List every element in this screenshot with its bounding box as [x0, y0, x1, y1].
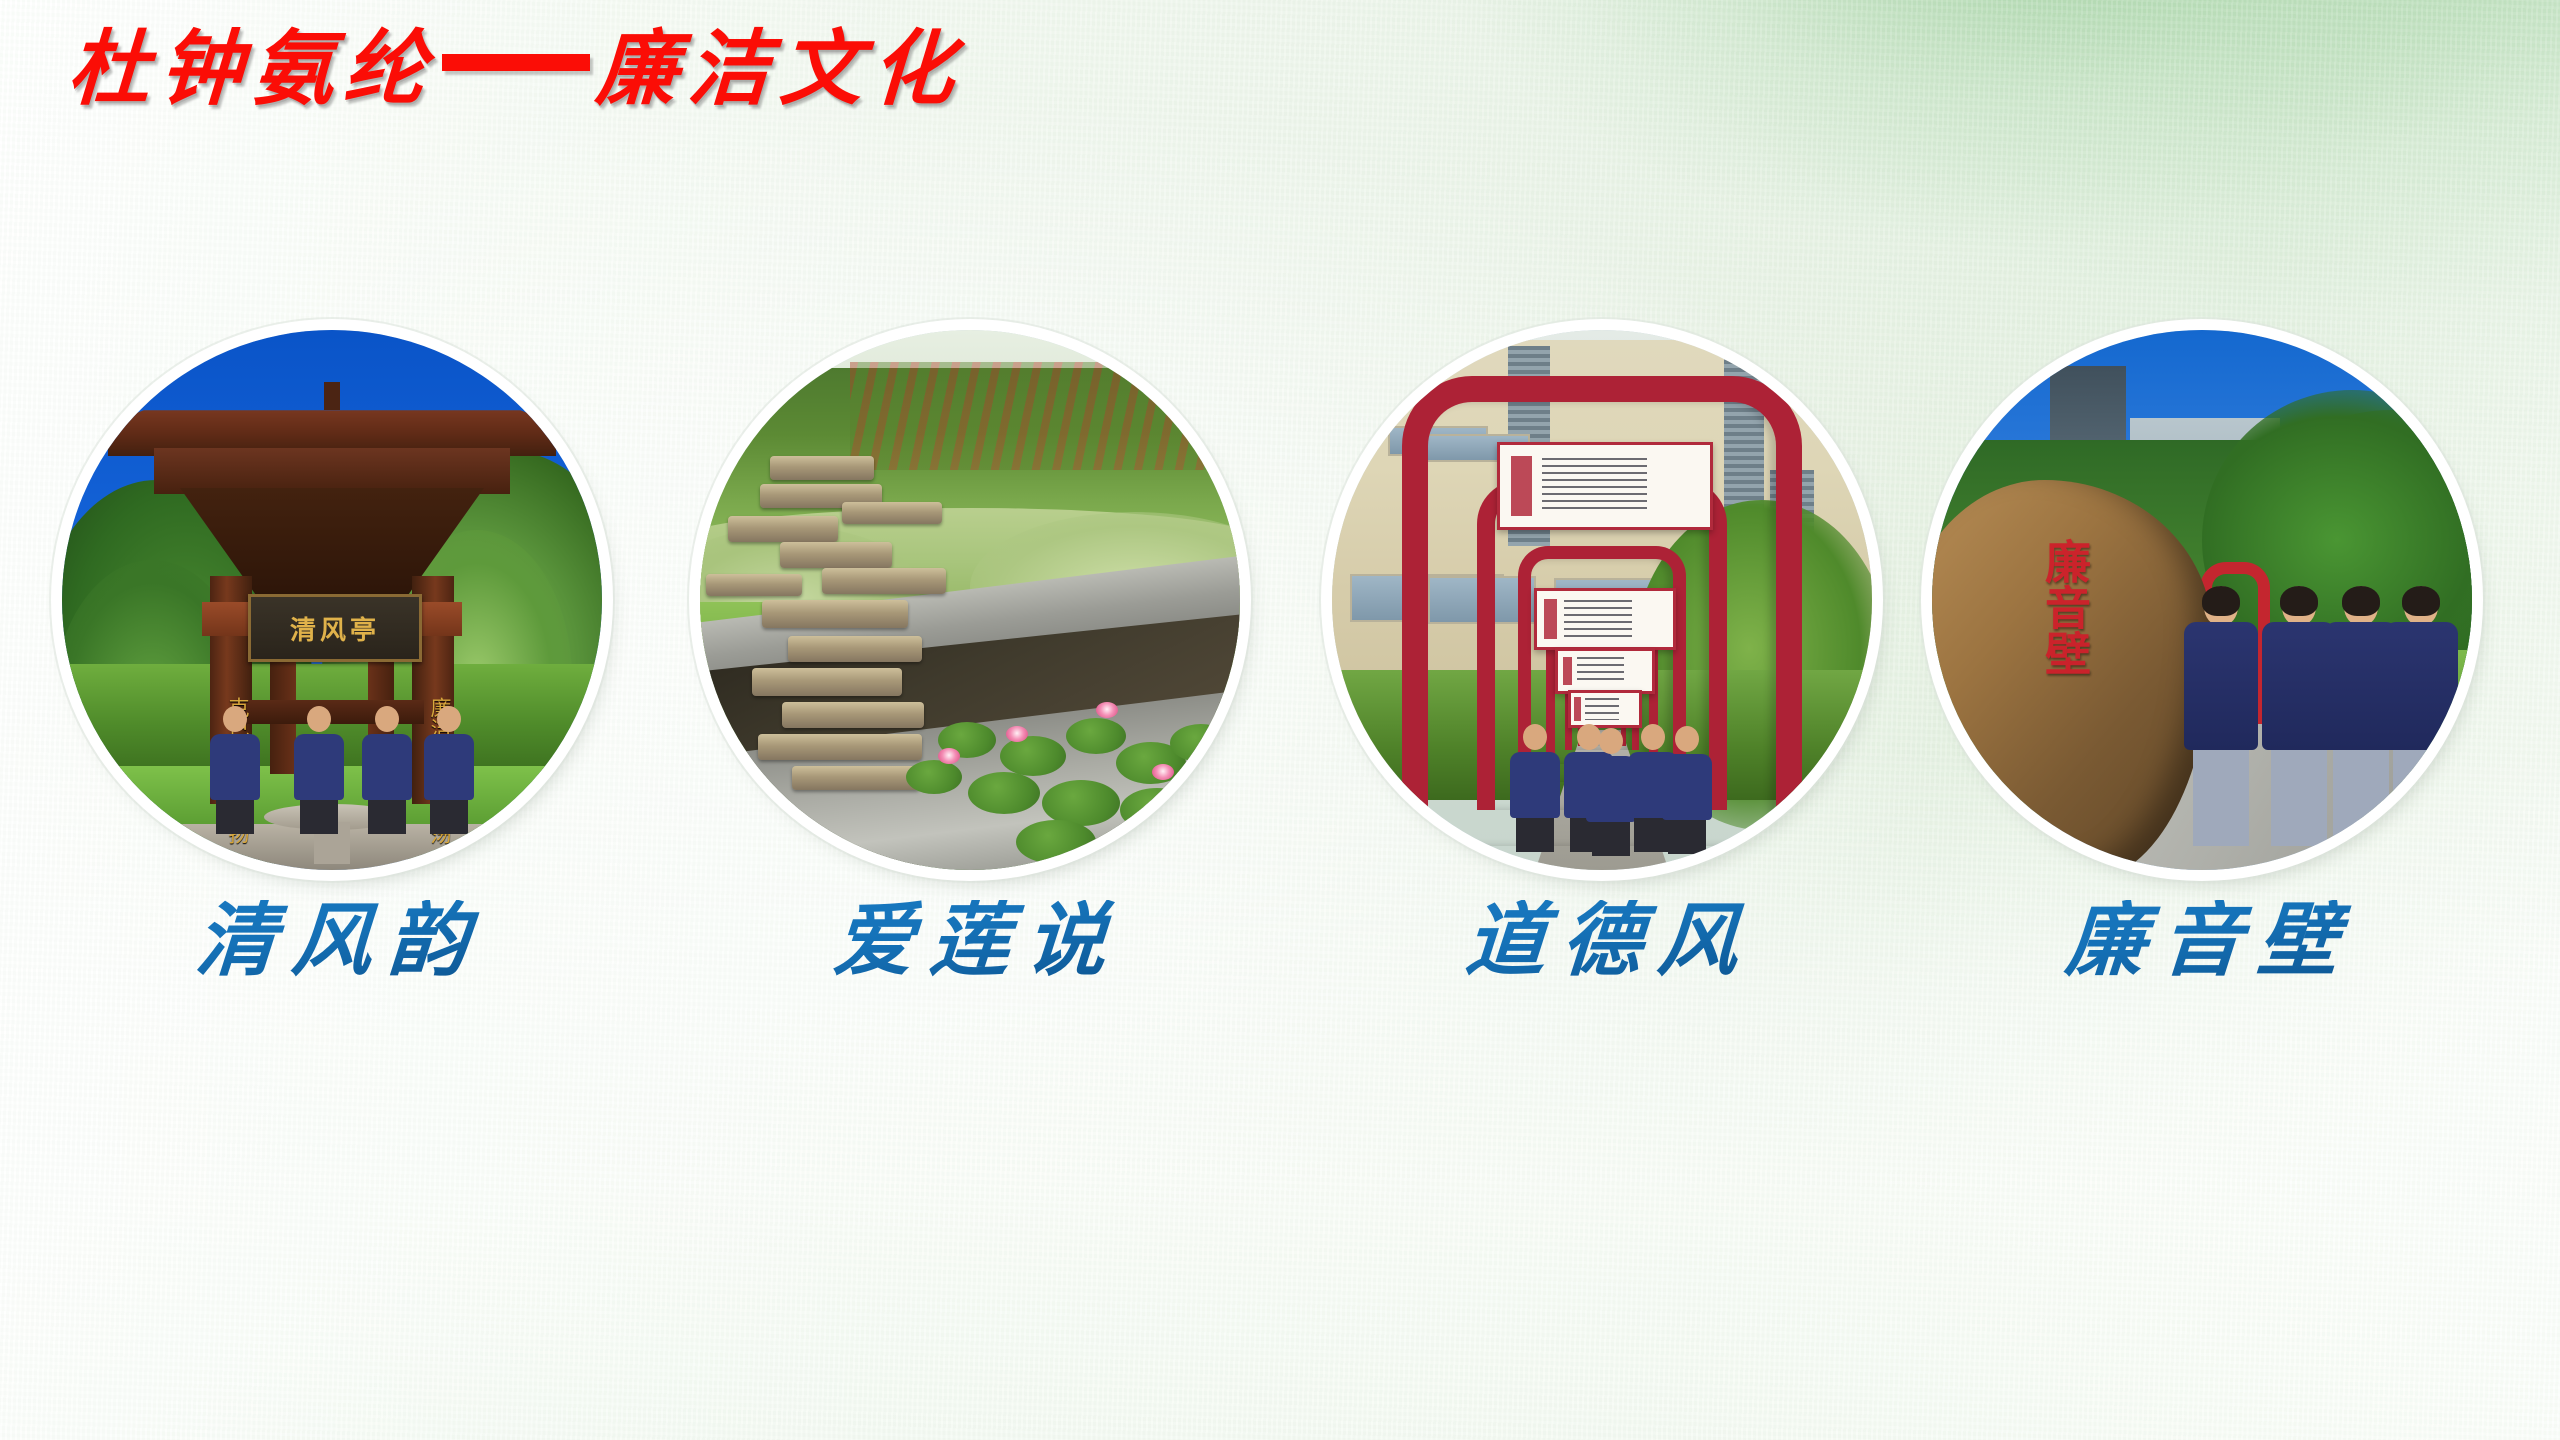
lily-pad [968, 772, 1040, 814]
water-lily-flower [938, 748, 960, 764]
person-figure [1510, 724, 1560, 852]
lily-pad [906, 760, 962, 794]
photo-cell-lianyinbi[interactable]: 廉音壁 廉音壁 [1912, 330, 2492, 910]
slide-canvas: 杜钟氨纶 廉洁文化 [0, 0, 2560, 1440]
photo-cell-ailianshuo[interactable]: 爱莲说 [680, 330, 1260, 910]
person-figure [362, 706, 412, 834]
photo-caption: 道德风 [1309, 900, 1895, 980]
water-lily-flower [1152, 764, 1174, 780]
slide-title: 杜钟氨纶 廉洁文化 [68, 14, 964, 124]
person-figure [294, 706, 344, 834]
title-tail-text: 廉洁文化 [594, 28, 966, 110]
scene-pavilion: 清风亭 克己奉公垂范扬 廉洁自律清风荡 [62, 330, 602, 870]
lily-pad [1170, 724, 1232, 762]
scene-red-arch-corridor [1332, 330, 1872, 870]
photo-caption: 清风韵 [39, 900, 625, 980]
title-main-text: 杜钟氨纶 [66, 28, 438, 110]
photo-circle-inscribed-stone[interactable]: 廉音壁 [1932, 330, 2472, 870]
culture-display-board [1497, 442, 1713, 530]
pavilion-roof-lower [154, 448, 510, 494]
person-figure [2184, 586, 2258, 846]
photo-cell-qingfengyun[interactable]: 清风亭 克己奉公垂范扬 廉洁自律清风荡 清风韵 [42, 330, 622, 910]
person-figure [210, 706, 260, 834]
person-figure [424, 706, 474, 834]
lily-pad [1000, 736, 1066, 776]
title-dash-rule [442, 54, 590, 71]
water-lily-flower [1096, 702, 1118, 718]
water-lily-flower [1006, 726, 1028, 742]
pavilion-plaque-text: 清风亭 [290, 610, 380, 647]
lily-pad [1066, 718, 1126, 754]
photo-caption: 廉音壁 [1909, 900, 2495, 980]
scene-lotus-pond [700, 330, 1240, 870]
photo-circle-lotus-pond[interactable] [700, 330, 1240, 870]
person-figure [2384, 586, 2458, 846]
photo-circle-pavilion[interactable]: 清风亭 克己奉公垂范扬 廉洁自律清风荡 [62, 330, 602, 870]
culture-display-board [1568, 690, 1642, 728]
pavilion-name-plaque: 清风亭 [248, 594, 422, 662]
photo-cell-daodefeng[interactable]: 道德风 [1312, 330, 1892, 910]
scene-inscribed-stone: 廉音壁 [1932, 330, 2472, 870]
person-figure [1662, 726, 1712, 854]
photo-caption: 爱莲说 [677, 900, 1263, 980]
photo-circle-red-arches[interactable] [1332, 330, 1872, 870]
photo-gallery-row: 清风亭 克己奉公垂范扬 廉洁自律清风荡 清风韵 [0, 330, 2560, 910]
roof-finial [324, 382, 340, 410]
lily-pad [1120, 788, 1194, 832]
culture-display-board [1555, 648, 1655, 694]
rockery-stack [758, 450, 968, 750]
culture-display-board [1534, 588, 1676, 650]
boulder-inscription: 廉音壁 [2000, 538, 2096, 788]
lily-pad [1016, 820, 1096, 864]
